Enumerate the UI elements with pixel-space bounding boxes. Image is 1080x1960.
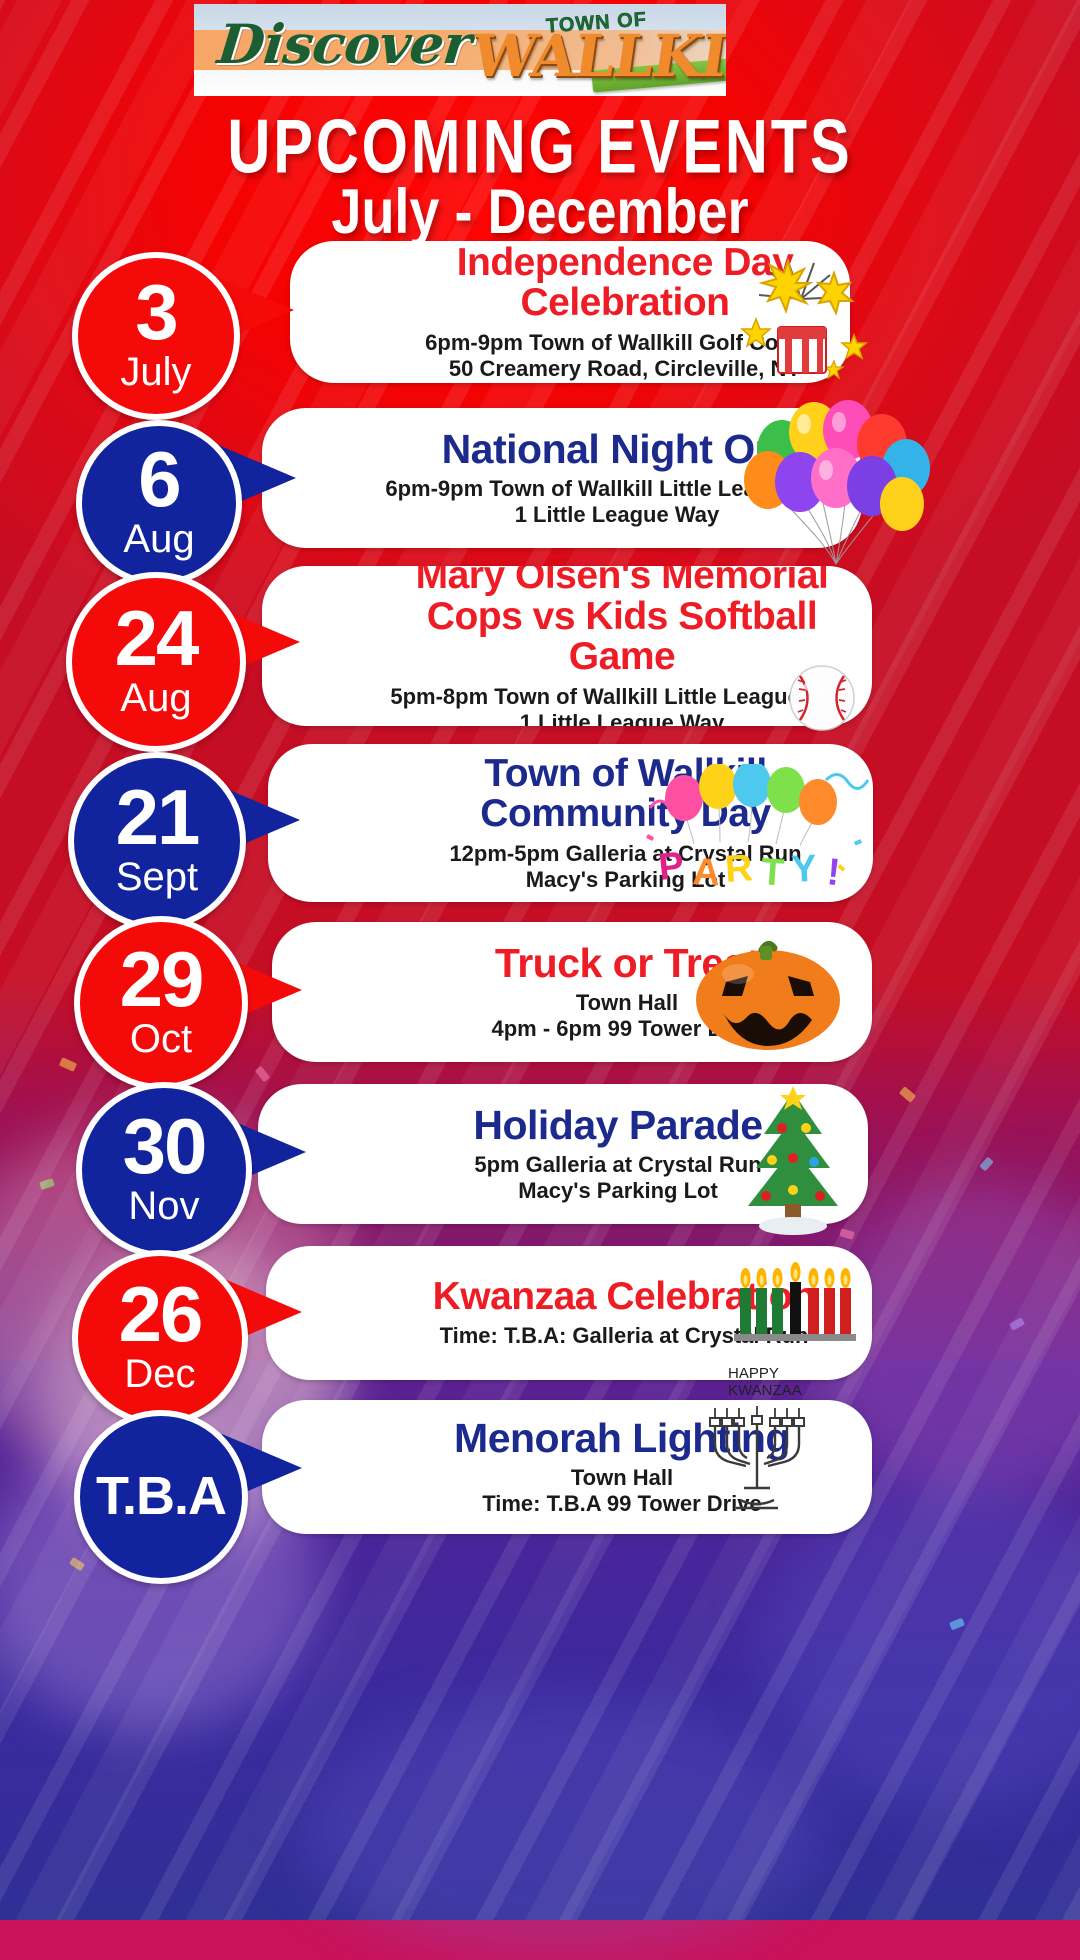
- event-day-number: 30: [123, 1114, 206, 1180]
- christmas-tree-icon: [738, 1086, 848, 1236]
- event-month-label: Oct: [130, 1019, 192, 1059]
- pumpkin-icon: [686, 938, 851, 1053]
- event-card-content: Mary Olsen's MemorialCops vs Kids Softba…: [262, 566, 872, 726]
- event-month-label: Dec: [124, 1354, 195, 1394]
- event-day-number: 3: [135, 280, 176, 346]
- event-month-label: Aug: [123, 519, 194, 559]
- svg-text:R: R: [724, 847, 754, 891]
- artwork-caption-line: HAPPY: [728, 1365, 863, 1382]
- event-date-bubble: 24Aug: [66, 572, 246, 752]
- event-date-bubble: 6Aug: [76, 420, 242, 586]
- event-day-number: 6: [138, 447, 179, 513]
- svg-text:Y: Y: [790, 848, 818, 891]
- event-day-number: 21: [116, 785, 199, 851]
- event-date-bubble: 26Dec: [72, 1250, 248, 1426]
- artwork-caption: HAPPYKWANZAA: [728, 1365, 863, 1400]
- event-month-label: Nov: [128, 1186, 199, 1226]
- event-day-number: T.B.A: [96, 1474, 226, 1519]
- event-date-bubble: T.B.A: [74, 1410, 248, 1584]
- event-date-bubble: 30Nov: [76, 1082, 252, 1258]
- event-date-bubble: 29Oct: [74, 916, 248, 1090]
- event-day-number: 29: [120, 947, 203, 1013]
- svg-text:P: P: [657, 845, 687, 889]
- menorah-icon: [700, 1396, 815, 1516]
- event-day-number: 26: [119, 1282, 202, 1348]
- event-month-label: Sept: [116, 857, 198, 897]
- event-title-line: Mary Olsen's Memorial: [382, 566, 862, 597]
- event-day-number: 24: [115, 606, 198, 672]
- svg-text:A: A: [692, 851, 722, 894]
- event-month-label: July: [120, 352, 191, 392]
- event-month-label: Aug: [120, 678, 191, 718]
- balloons-icon: [744, 396, 934, 571]
- svg-text:!: !: [825, 851, 842, 894]
- kwanzaa-candles-icon: HAPPYKWANZAA: [728, 1252, 863, 1362]
- event-date-bubble: 21Sept: [68, 752, 246, 930]
- wallkill-logo-banner: Discover WALLKILL TOWN OF: [194, 4, 726, 96]
- page-subtitle: July - December: [0, 176, 1080, 248]
- event-date-bubble: 3July: [72, 252, 240, 420]
- logo-discover-text: Discover: [215, 12, 475, 76]
- firework-gift-icon: [726, 253, 876, 383]
- svg-text:T: T: [759, 851, 785, 894]
- baseball-icon: [782, 658, 862, 738]
- party-balloons-icon: P A R T Y !: [640, 764, 875, 894]
- event-card: Mary Olsen's MemorialCops vs Kids Softba…: [262, 566, 872, 726]
